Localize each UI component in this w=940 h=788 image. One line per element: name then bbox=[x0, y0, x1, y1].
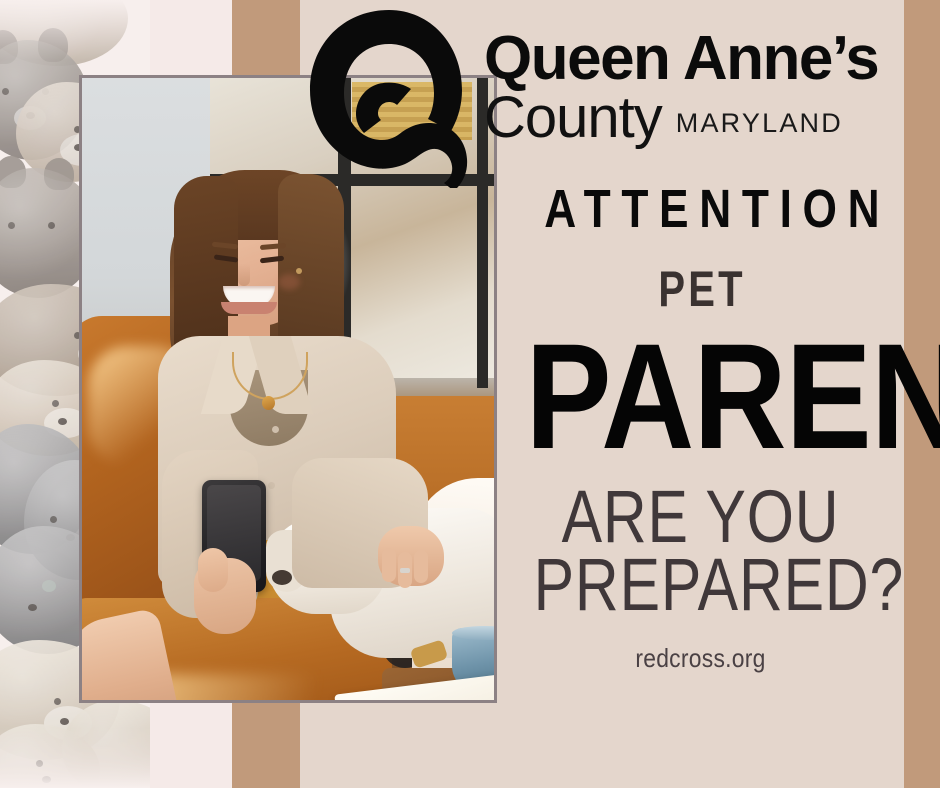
headline-attention: ATTENTION bbox=[534, 182, 868, 236]
logo-line-maryland: MARYLAND bbox=[676, 108, 843, 146]
headline-question-line1: ARE YOU bbox=[534, 483, 868, 551]
queen-annes-county-wordmark: Queen Anne’s County MARYLAND bbox=[484, 30, 904, 146]
collage-fade-bottom bbox=[0, 728, 150, 788]
headline-pet: PET bbox=[538, 264, 864, 314]
logo-line-county: County bbox=[484, 90, 662, 146]
redcross-url: redcross.org bbox=[521, 643, 879, 674]
collage-fade-top bbox=[0, 0, 150, 60]
queen-annes-county-q-mark bbox=[304, 8, 474, 188]
poster-canvas: Queen Anne’s County MARYLAND ATTENTION P… bbox=[0, 0, 940, 788]
headline-block: ATTENTION PET PARENTS ARE YOU PREPARED? … bbox=[497, 182, 904, 674]
headline-question: ARE YOU PREPARED? bbox=[534, 483, 868, 619]
headline-parents: PARENTS bbox=[525, 332, 875, 461]
logo-line-queen-annes: Queen Anne’s bbox=[484, 30, 904, 88]
headline-question-line2: PREPARED? bbox=[534, 551, 868, 619]
